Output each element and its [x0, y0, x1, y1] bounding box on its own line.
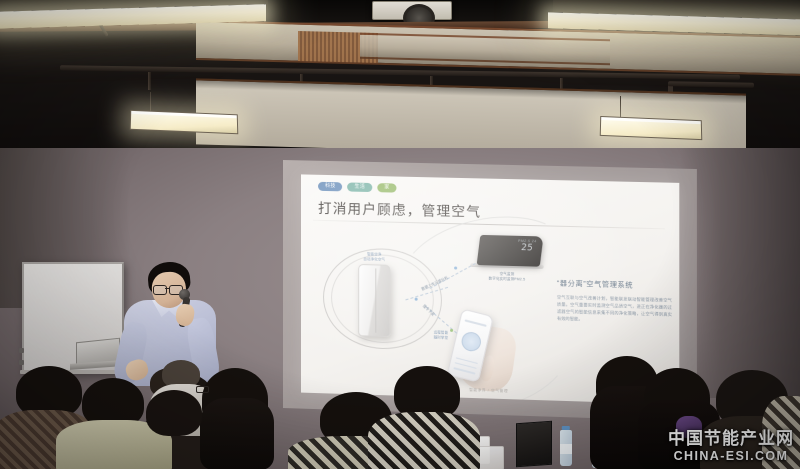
bottle-cap-2: [562, 426, 570, 430]
tissue-box-2: [476, 446, 504, 469]
watermark: 中国节能产业网 CHINA-ESI.COM: [668, 431, 794, 465]
audience-laptop: [516, 421, 552, 468]
purifier-label: 智能空净自动净化空气: [351, 252, 397, 263]
water-bottle-2: [560, 430, 572, 466]
whiteboard-clip-2: [19, 360, 24, 365]
bottle-label-2: [560, 444, 572, 453]
slide-tag-2: 家: [377, 183, 396, 192]
audience-hair-fall-1: [200, 398, 274, 469]
ceiling-panel-light-left: [130, 110, 239, 134]
audience-head-glasses: [146, 390, 202, 436]
slide-tag-1: 生活: [348, 182, 373, 192]
watermark-english: CHINA-ESI.COM: [668, 448, 794, 465]
ceiling-conduit-right-top: [668, 81, 754, 88]
slide-tag-0: 科技: [318, 182, 342, 192]
ceiling: [0, 0, 800, 152]
photo-scene: 科技 生活 家 打消用户顾虑，管理空气 智能空净自动净化空气 PM2.5 24 …: [0, 0, 800, 469]
speaker-glasses-bridge: [165, 288, 170, 289]
air-purifier-illustration: [358, 264, 390, 337]
speaker-glasses-left: [153, 285, 167, 295]
slide-tag-group: 科技 生活 家: [318, 182, 396, 193]
wall-shadow-right: [680, 148, 800, 398]
watermark-chinese: 中国节能产业网: [668, 431, 794, 448]
projector: [372, 1, 452, 20]
slide-right-body: 空气互联与空气改善计划，智能联发联动智能管理改善空气质量。空气重要实时监测空气品…: [557, 293, 672, 325]
slide-right-heading: “器分离”空气管理系统: [557, 278, 672, 291]
audience-body-right-1: [368, 412, 480, 469]
whiteboard-clip-1: [19, 348, 24, 353]
purifier-seam: [375, 268, 376, 333]
ceiling-hanger-1: [148, 72, 151, 90]
audience-glasses: [196, 386, 209, 393]
ceiling-panel-light-right: [600, 116, 703, 140]
slide-title: 打消用户顾虑，管理空气: [318, 197, 481, 221]
